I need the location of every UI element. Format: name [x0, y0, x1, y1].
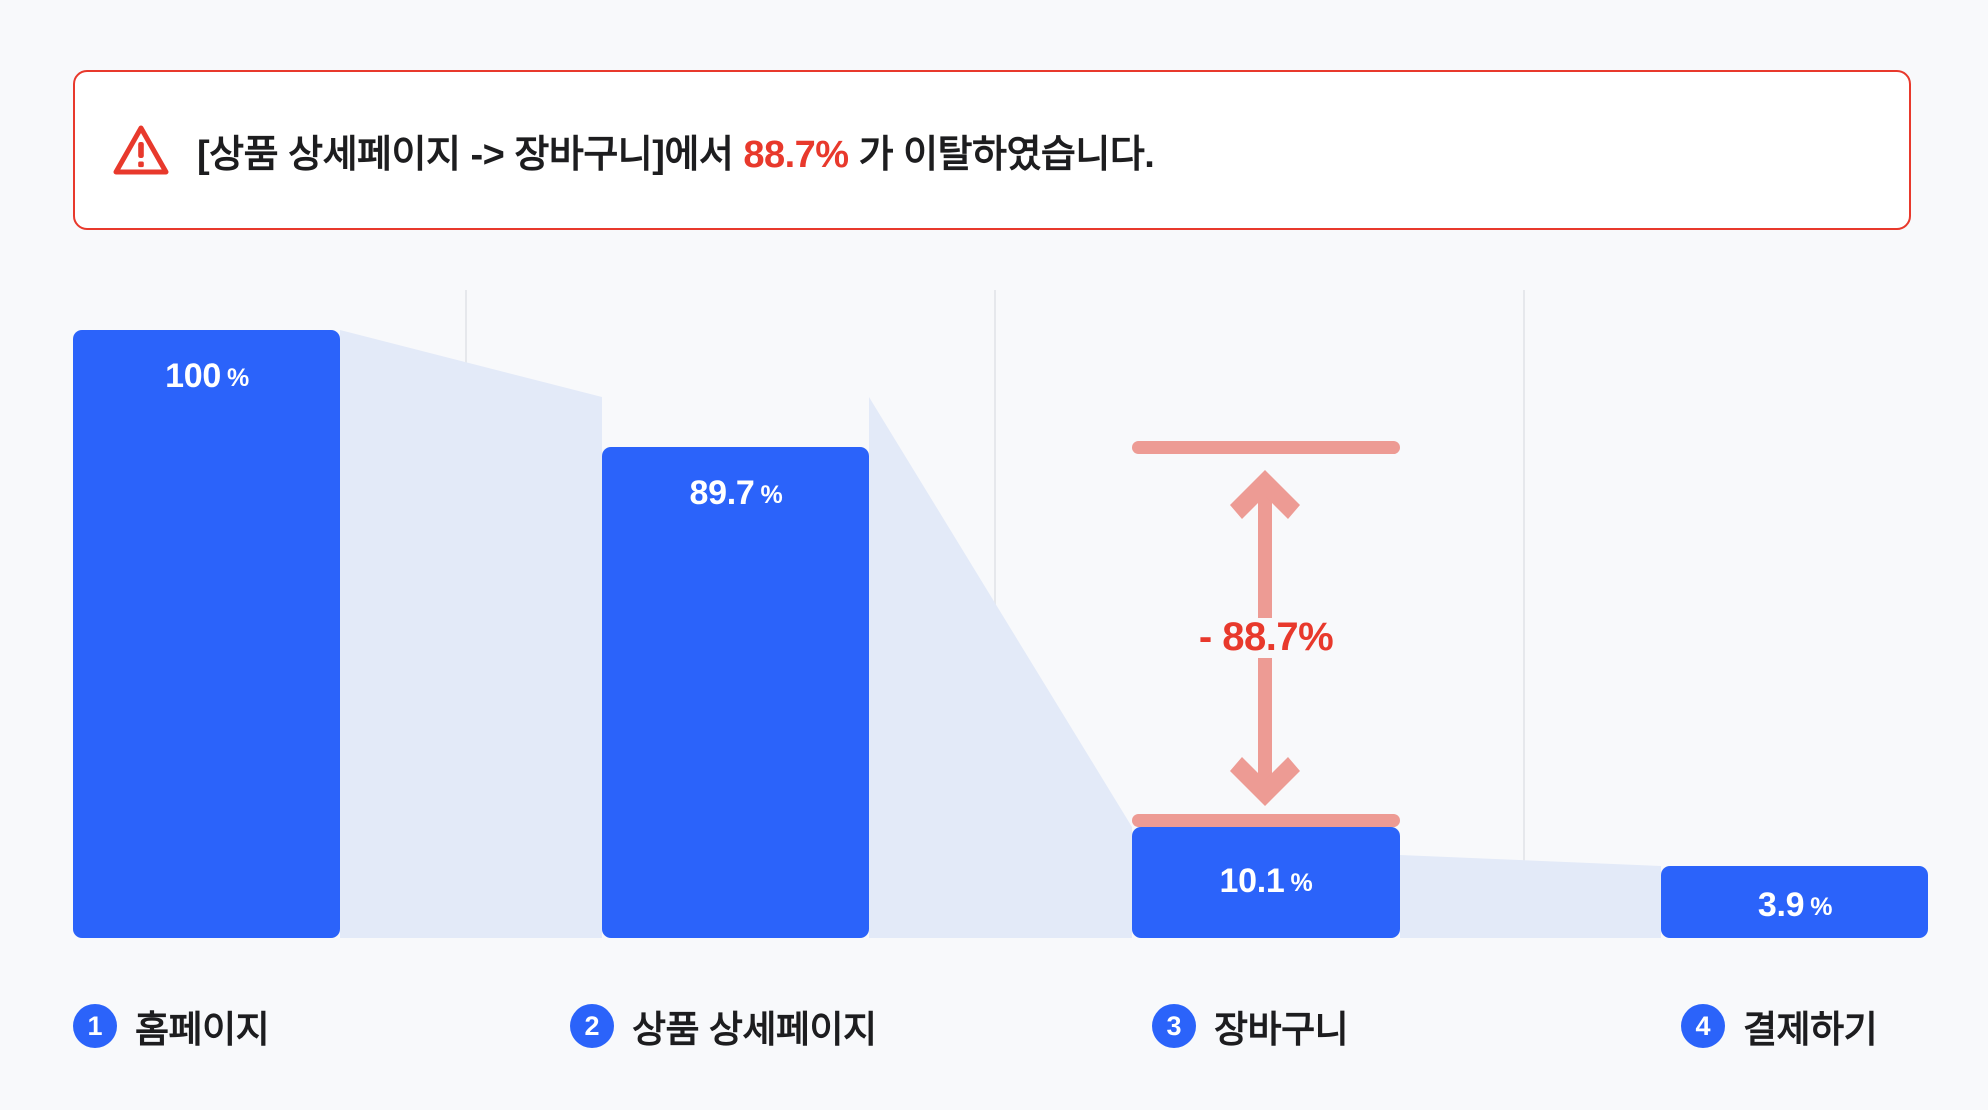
funnel-chart-canvas [0, 0, 1988, 1110]
bar-value-number: 3.9 [1758, 886, 1804, 924]
bar-value-unit: % [1810, 893, 1832, 921]
bar-value-number: 89.7 [690, 474, 755, 512]
bar-value-unit: % [761, 481, 783, 509]
connectors [340, 330, 1661, 938]
bar-value-unit: % [227, 364, 249, 392]
bar-value-step-3: 10.1% [1220, 862, 1313, 901]
connector-3-4 [1400, 855, 1661, 938]
step-legend-3[interactable]: 3 장바구니 [1152, 1000, 1348, 1052]
bar-value-step-2: 89.7% [690, 474, 783, 513]
dropoff-value-label: - 88.7% [1199, 615, 1333, 660]
bar-value-step-4: 3.9% [1758, 886, 1832, 925]
dropoff-bottom-rule [1132, 814, 1400, 827]
step-legend-1[interactable]: 1 홈페이지 [73, 1000, 269, 1052]
step-number-badge: 1 [73, 1004, 117, 1048]
step-number-badge: 3 [1152, 1004, 1196, 1048]
bar-step-1[interactable] [73, 330, 340, 938]
step-label: 상품 상세페이지 [632, 999, 877, 1053]
step-label: 홈페이지 [135, 999, 269, 1053]
bar-step-2[interactable] [602, 447, 869, 938]
funnel-chart: 100% 89.7% 10.1% 3.9% - 88.7% 1 홈페이지 2 상… [0, 0, 1988, 1110]
step-legend-4[interactable]: 4 결제하기 [1681, 1000, 1877, 1052]
step-number-badge: 2 [570, 1004, 614, 1048]
bar-value-number: 10.1 [1220, 862, 1285, 900]
step-legend-2[interactable]: 2 상품 상세페이지 [570, 1000, 877, 1052]
bar-value-step-1: 100% [165, 357, 249, 396]
dropoff-top-rule [1132, 441, 1400, 454]
step-label: 장바구니 [1214, 999, 1348, 1053]
bar-value-unit: % [1291, 869, 1313, 897]
connector-1-2 [340, 330, 602, 938]
bar-value-number: 100 [165, 357, 221, 395]
step-number-badge: 4 [1681, 1004, 1725, 1048]
connector-2-3 [869, 397, 1132, 938]
step-label: 결제하기 [1743, 999, 1877, 1053]
